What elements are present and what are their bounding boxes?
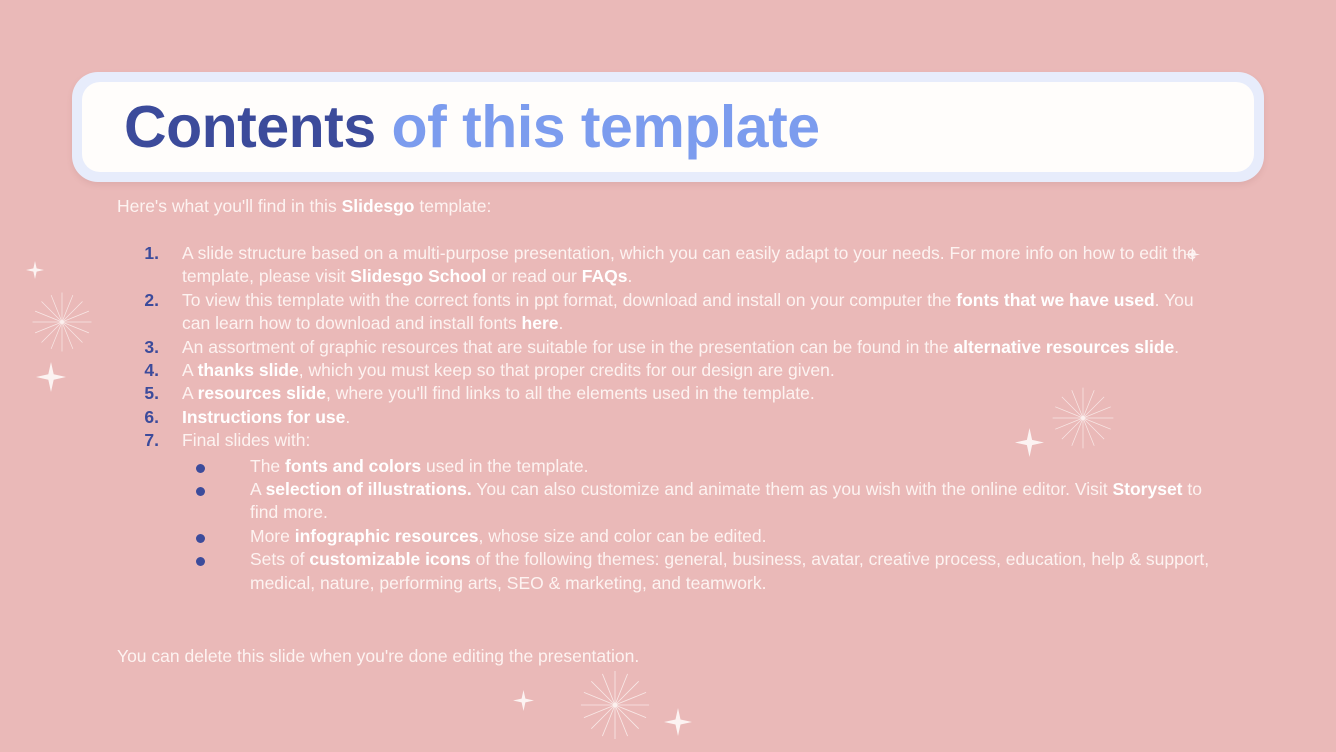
list-item-2-segment-4: . <box>559 313 564 333</box>
list-item-number: 4. <box>131 359 159 382</box>
list-item-text: The fonts and colors used in the templat… <box>250 456 588 476</box>
list-item-number: 5. <box>131 382 159 405</box>
bullet-dot-icon <box>196 487 205 496</box>
burst-sparkle-icon <box>30 290 94 354</box>
list-item-number: 3. <box>131 336 159 359</box>
page-title-primary: Contents <box>124 94 392 160</box>
list-item-5-segment-2: , where you'll find links to all the ele… <box>326 383 815 403</box>
list-item-text: Sets of customizable icons of the follow… <box>250 549 1209 592</box>
list-item: 6.Instructions for use. <box>117 406 1217 429</box>
list-item-7-segment-0: Final slides with: <box>182 430 310 450</box>
list-item: 3.An assortment of graphic resources tha… <box>117 336 1217 359</box>
list-item-6-segment-1: . <box>345 407 350 427</box>
list-item: A selection of illustrations. You can al… <box>182 478 1217 525</box>
list-item-4-segment-2: , which you must keep so that proper cre… <box>299 360 835 380</box>
list-item-6-segment-0: Instructions for use <box>182 407 345 427</box>
list-item-3-segment-2: . <box>1174 337 1179 357</box>
list-item-text: Final slides with: <box>182 430 310 450</box>
list-item-3-segment-0: An assortment of graphic resources that … <box>182 337 953 357</box>
list-item-1-segment-3: FAQs <box>582 266 628 286</box>
sub-item-2-segment-0: A <box>250 479 266 499</box>
bullet-dot-icon <box>196 464 205 473</box>
sub-item-3-segment-0: More <box>250 526 295 546</box>
sub-item-2-segment-2: You can also customize and animate them … <box>472 479 1113 499</box>
sub-item-1-segment-1: fonts and colors <box>285 456 421 476</box>
list-item-4-segment-0: A <box>182 360 198 380</box>
sub-item-4-segment-0: Sets of <box>250 549 309 569</box>
star-sparkle-icon <box>664 708 692 736</box>
title-banner: Contents of this template <box>72 72 1264 182</box>
sub-bullet-wrap: The fonts and colors used in the templat… <box>117 455 1217 595</box>
title-banner-inner: Contents of this template <box>82 82 1254 172</box>
list-item-1-segment-2: or read our <box>486 266 581 286</box>
star-sparkle-icon <box>513 690 534 711</box>
list-item-5-segment-0: A <box>182 383 198 403</box>
intro-bold: Slidesgo <box>342 196 415 216</box>
sub-item-3-segment-2: , whose size and color can be edited. <box>479 526 767 546</box>
list-item-2-segment-0: To view this template with the correct f… <box>182 290 956 310</box>
sub-item-2-segment-1: selection of illustrations. <box>266 479 472 499</box>
list-item-text: A thanks slide, which you must keep so t… <box>182 360 835 380</box>
list-item-text: A selection of illustrations. You can al… <box>250 479 1202 522</box>
list-item-2-segment-3: here <box>522 313 559 333</box>
sub-bullet-list: The fonts and colors used in the templat… <box>182 455 1217 595</box>
list-item-text: A slide structure based on a multi-purpo… <box>182 243 1197 286</box>
list-item-number: 2. <box>131 289 159 312</box>
list-item: 1.A slide structure based on a multi-pur… <box>117 242 1217 289</box>
sub-item-3-segment-1: infographic resources <box>295 526 479 546</box>
list-item-5-segment-1: resources slide <box>198 383 326 403</box>
outro-line: You can delete this slide when you're do… <box>117 645 639 669</box>
list-item: More infographic resources, whose size a… <box>182 525 1217 548</box>
numbered-list: 1.A slide structure based on a multi-pur… <box>117 242 1217 453</box>
contents-lists: 1.A slide structure based on a multi-pur… <box>117 242 1217 595</box>
bullet-dot-icon <box>196 534 205 543</box>
list-item-number: 1. <box>131 242 159 265</box>
intro-prefix: Here's what you'll find in this <box>117 196 342 216</box>
list-item-number: 7. <box>131 429 159 452</box>
list-item-text: Instructions for use. <box>182 407 350 427</box>
list-item-text: More infographic resources, whose size a… <box>250 526 767 546</box>
intro-line: Here's what you'll find in this Slidesgo… <box>117 195 491 219</box>
list-item-text: An assortment of graphic resources that … <box>182 337 1179 357</box>
sub-item-1-segment-2: used in the template. <box>421 456 588 476</box>
sub-item-2-segment-3: Storyset <box>1112 479 1182 499</box>
list-item: 2.To view this template with the correct… <box>117 289 1217 336</box>
bullet-dot-icon <box>196 557 205 566</box>
sub-item-4-segment-1: customizable icons <box>309 549 470 569</box>
star-sparkle-icon <box>36 362 66 392</box>
page-title: Contents of this template <box>124 98 820 157</box>
list-item-1-segment-4: . <box>627 266 632 286</box>
list-item-4-segment-1: thanks slide <box>198 360 299 380</box>
list-item: 7.Final slides with: <box>117 429 1217 452</box>
list-item-1-segment-0: A slide structure based on a multi-purpo… <box>182 243 1197 286</box>
list-item-text: A resources slide, where you'll find lin… <box>182 383 815 403</box>
list-item: 4.A thanks slide, which you must keep so… <box>117 359 1217 382</box>
list-item-1-segment-1: Slidesgo School <box>350 266 486 286</box>
list-item-3-segment-1: alternative resources slide <box>953 337 1174 357</box>
intro-suffix: template: <box>415 196 492 216</box>
list-item-text: To view this template with the correct f… <box>182 290 1194 333</box>
page-title-secondary: of this template <box>392 94 820 160</box>
sub-item-1-segment-0: The <box>250 456 285 476</box>
list-item-number: 6. <box>131 406 159 429</box>
star-sparkle-icon <box>26 261 44 279</box>
list-item: The fonts and colors used in the templat… <box>182 455 1217 478</box>
list-item: Sets of customizable icons of the follow… <box>182 548 1217 595</box>
list-item: 5.A resources slide, where you'll find l… <box>117 382 1217 405</box>
list-item-2-segment-1: fonts that we have used <box>956 290 1154 310</box>
burst-sparkle-icon <box>578 668 652 742</box>
